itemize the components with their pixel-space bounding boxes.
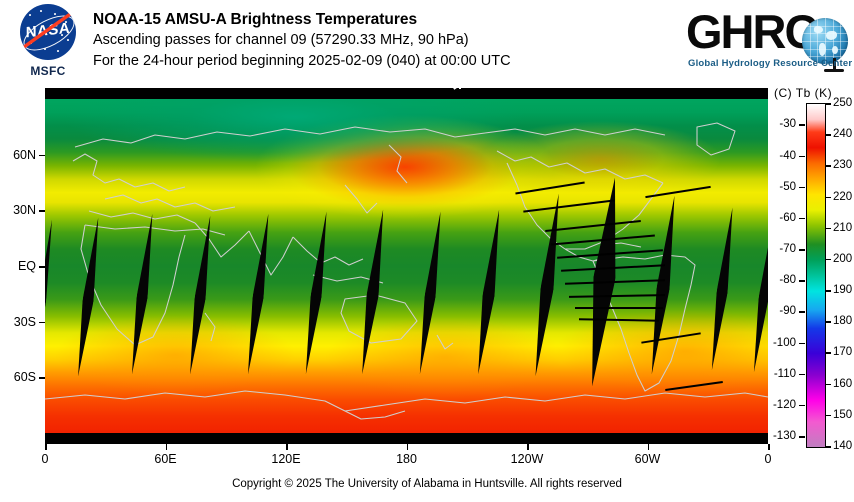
colorbar-celsius-tick (799, 405, 805, 407)
scan-gap-line (569, 294, 665, 297)
nasa-center-label: MSFC (12, 64, 84, 78)
scan-gap-line (641, 332, 700, 343)
longitude-tick (527, 444, 529, 450)
longitude-tick (648, 444, 650, 450)
colorbar[interactable] (806, 103, 826, 448)
latitude-tick (39, 155, 45, 157)
swath-gap (473, 209, 505, 375)
ghrc-acronym: GHRC (686, 8, 816, 55)
nasa-red-swoosh-icon (22, 12, 74, 52)
longitude-label: 60E (154, 452, 176, 466)
swath-gap (707, 207, 738, 371)
colorbar-kelvin-tick (825, 415, 831, 417)
colorbar-celsius-tick (799, 280, 805, 282)
colorbar-celsius-tick (799, 156, 805, 158)
longitude-label: 0 (765, 452, 772, 466)
copyright-notice: Copyright © 2025 The University of Alaba… (0, 478, 854, 490)
colorbar-celsius-label: -100 (773, 337, 796, 349)
colorbar-celsius-label: -50 (779, 181, 796, 193)
colorbar-gradient (807, 104, 825, 447)
swath-gap (45, 219, 56, 369)
nasa-meatball-icon: NASA (20, 4, 76, 60)
colorbar-kelvin-label: 200 (833, 253, 852, 265)
ghrc-globe-base (824, 69, 844, 72)
colorbar-celsius-label: -90 (779, 305, 796, 317)
colorbar-celsius-label: -30 (779, 118, 796, 130)
longitude-label: 120W (511, 452, 544, 466)
title-block: NOAA-15 AMSU-A Brightness Temperatures A… (93, 9, 693, 72)
latitude-tick (39, 266, 45, 268)
colorbar-celsius-label: -110 (774, 368, 796, 380)
colorbar-header: (C) Tb (K) (774, 86, 832, 100)
scan-gap-line (665, 381, 723, 391)
longitude-label: 120E (271, 452, 300, 466)
colorbar-celsius-tick (799, 187, 805, 189)
colorbar-kelvin-tick (825, 384, 831, 386)
swath-gap (415, 211, 446, 375)
colorbar-kelvin-tick (825, 228, 831, 230)
colorbar-kelvin-label: 160 (833, 378, 852, 390)
colorbar-kelvin-tick (825, 165, 831, 167)
swath-gap (301, 211, 332, 375)
scan-gap-line (565, 279, 665, 284)
latitude-label: 30N (0, 203, 36, 217)
longitude-tick (286, 444, 288, 450)
ghrc-tagline: Global Hydrology Resource Center (688, 58, 852, 69)
longitude-label: 0 (42, 452, 49, 466)
latitude-tick (39, 210, 45, 212)
scan-gap-line (545, 220, 641, 232)
colorbar-celsius-tick (799, 124, 805, 126)
colorbar-kelvin-label: 190 (833, 284, 852, 296)
swath-gap (530, 193, 565, 377)
longitude-tick (407, 444, 409, 450)
colorbar-celsius-tick (799, 249, 805, 251)
colorbar-celsius-label: -60 (779, 212, 796, 224)
longitude-tick (166, 444, 168, 450)
colorbar-celsius-tick (799, 311, 805, 313)
scan-direction-marker-icon (413, 78, 465, 89)
colorbar-kelvin-label: 240 (833, 128, 852, 140)
nasa-logo: NASA MSFC (12, 4, 84, 82)
colorbar-celsius-tick (799, 218, 805, 220)
colorbar-celsius-label: -70 (779, 243, 796, 255)
longitude-label: 60W (635, 452, 661, 466)
swath-gap (243, 213, 274, 375)
colorbar-kelvin-tick (825, 446, 831, 448)
colorbar-kelvin-tick (825, 134, 831, 136)
page-subtitle-channel: Ascending passes for channel 09 (57290.3… (93, 30, 693, 51)
swath-gap (357, 209, 389, 375)
colorbar-kelvin-label: 140 (833, 440, 852, 452)
swath-gap (646, 195, 681, 375)
colorbar-kelvin-label: 150 (833, 409, 852, 421)
orbit-gap-swaths (45, 99, 768, 433)
colorbar-celsius-label: -130 (773, 430, 796, 442)
colorbar-kelvin-tick (825, 197, 831, 199)
latitude-tick (39, 322, 45, 324)
swath-gap (73, 217, 103, 377)
colorbar-kelvin-label: 250 (833, 97, 852, 109)
colorbar-celsius-tick (799, 374, 805, 376)
latitude-label: 30S (0, 315, 36, 329)
latitude-tick (39, 377, 45, 379)
colorbar-celsius-tick (799, 436, 805, 438)
longitude-tick (768, 444, 770, 450)
colorbar-celsius-label: -40 (779, 150, 796, 162)
colorbar-kelvin-label: 230 (833, 159, 852, 171)
swath-gap (750, 217, 768, 373)
colorbar-kelvin-label: 220 (833, 191, 852, 203)
scan-gap-line (575, 307, 663, 309)
colorbar-kelvin-tick (825, 259, 831, 261)
colorbar-celsius-label: -80 (779, 274, 796, 286)
page-title: NOAA-15 AMSU-A Brightness Temperatures (93, 9, 693, 30)
colorbar-kelvin-tick (825, 321, 831, 323)
latitude-label: 60N (0, 148, 36, 162)
map-panel[interactable] (45, 88, 768, 444)
scan-gap-line (515, 182, 584, 194)
scan-gap-line (645, 186, 710, 198)
latitude-label: 60S (0, 370, 36, 384)
scan-gap-line (523, 199, 614, 212)
colorbar-celsius-label: -120 (773, 399, 796, 411)
colorbar-celsius-tick (799, 343, 805, 345)
colorbar-kelvin-tick (825, 103, 831, 105)
colorbar-kelvin-label: 170 (833, 346, 852, 358)
colorbar-kelvin-label: 210 (833, 222, 852, 234)
swath-gap (185, 215, 215, 375)
swath-gap (127, 213, 158, 375)
ghrc-logo: GHRC Global Hydrology Resource Center (686, 6, 850, 78)
scan-gap-line (579, 318, 659, 321)
page-subtitle-period: For the 24-hour period beginning 2025-02… (93, 51, 693, 72)
colorbar-kelvin-tick (825, 352, 831, 354)
latitude-label: EQ (0, 259, 36, 273)
colorbar-kelvin-label: 180 (833, 315, 852, 327)
longitude-tick (45, 444, 47, 450)
colorbar-kelvin-tick (825, 290, 831, 292)
longitude-label: 180 (396, 452, 417, 466)
brightness-temperature-heatmap[interactable] (45, 99, 768, 433)
